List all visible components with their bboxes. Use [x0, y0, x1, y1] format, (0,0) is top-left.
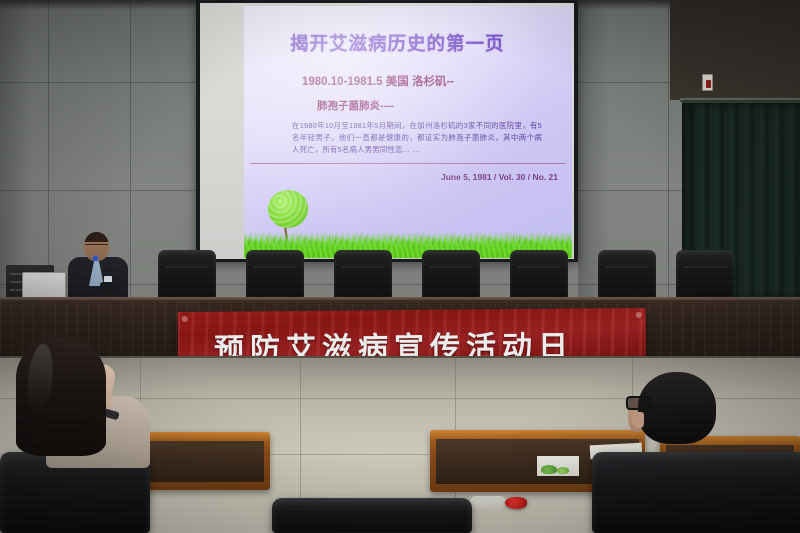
slide-title: 揭开艾滋病历史的第一页 [290, 30, 505, 56]
stage-chair[interactable] [422, 250, 480, 300]
stage-chair[interactable] [334, 250, 392, 300]
projection-screen-frame: 揭开艾滋病历史的第一页 1980.10-1981.5 美国 洛杉矶-- 肺孢子菌… [196, 0, 578, 262]
red-object [505, 497, 527, 509]
stage-chair[interactable] [598, 250, 656, 300]
banner-tie [182, 316, 188, 322]
desk-surface [430, 430, 645, 439]
fire-alarm-switch-icon[interactable] [702, 74, 713, 91]
slide-citation: June 5, 1981 / Vol. 30 / No. 21 [441, 172, 558, 182]
tree-icon [268, 190, 308, 228]
glasses-icon [626, 396, 652, 410]
plastic-bag [470, 496, 506, 510]
attendee-foreground-right [630, 372, 800, 492]
microphone-icon[interactable] [100, 282, 118, 297]
presentation-slide: 揭开艾滋病历史的第一页 1980.10-1981.5 美国 洛杉矶-- 肺孢子菌… [244, 6, 572, 258]
attendee-foreground-left [8, 338, 158, 478]
stage-chair[interactable] [246, 250, 304, 300]
banner-tie [636, 312, 642, 318]
slide-body-text: 在1980年10月至1981年5月期间，在加州洛杉矶的3家不同的医院里，有5名年… [292, 120, 542, 156]
name-badge [93, 256, 98, 261]
health-brochure[interactable] [537, 456, 579, 476]
slide-heading-1: 1980.10-1981.5 美国 洛杉矶-- [302, 73, 454, 89]
stage-chair[interactable] [676, 250, 734, 300]
curtain-valance [670, 0, 800, 100]
lecture-hall-photo: 揭开艾滋病历史的第一页 1980.10-1981.5 美国 洛杉矶-- 肺孢子菌… [0, 0, 800, 533]
slide-divider [250, 163, 566, 164]
attendee-hair [16, 338, 106, 456]
projection-screen: 揭开艾滋病历史的第一页 1980.10-1981.5 美国 洛杉矶-- 肺孢子菌… [200, 3, 574, 259]
audience-chair[interactable] [272, 498, 472, 533]
stage-chair[interactable] [510, 250, 568, 300]
glasses-icon [85, 244, 108, 249]
slide-heading-2: 肺孢子菌肺炎---- [317, 98, 394, 113]
stage-chair[interactable] [158, 250, 216, 300]
attendee-ear [632, 412, 644, 428]
